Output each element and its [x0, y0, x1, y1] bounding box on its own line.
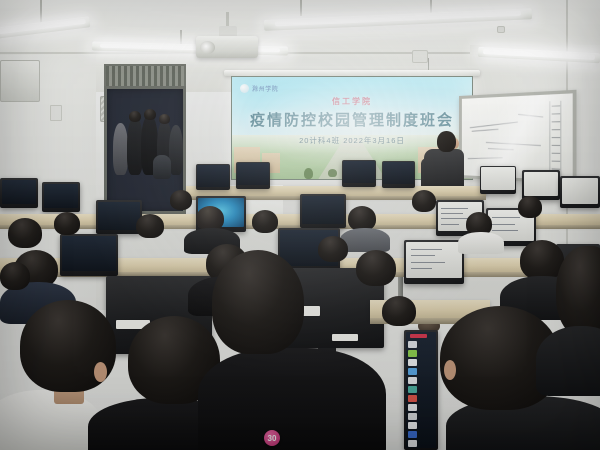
- monitor: [196, 164, 230, 190]
- wall-plate: [50, 105, 62, 121]
- monitor: [404, 240, 464, 284]
- monitor-with-desktop-icons[interactable]: [404, 330, 438, 450]
- desktop-icon[interactable]: [408, 431, 417, 438]
- desktop-icon-column[interactable]: [408, 341, 428, 448]
- monitor: [560, 176, 600, 208]
- student-head: [0, 262, 30, 290]
- student-head-foreground: [556, 246, 600, 338]
- student-head: [54, 212, 80, 235]
- monitor: [342, 160, 376, 187]
- monitor: [480, 166, 516, 194]
- air-conditioner-unit: [0, 60, 40, 102]
- wall-plate: [497, 26, 505, 33]
- institution-logo-icon: [240, 84, 249, 93]
- monitor: [382, 161, 415, 188]
- person-in-doorway: [113, 123, 128, 175]
- desktop-icon[interactable]: [408, 386, 417, 393]
- student-head: [170, 190, 192, 210]
- student-head: [252, 210, 278, 233]
- institution-logo-text: 滁州学院: [252, 84, 278, 93]
- projector-lens-icon: [200, 41, 215, 54]
- monitor: [300, 194, 346, 228]
- student-ear: [444, 360, 456, 380]
- monitor: [42, 182, 80, 212]
- asset-label-sticker: [332, 334, 358, 341]
- monitor: [60, 234, 118, 276]
- backpack: [153, 155, 171, 179]
- light-hanger: [300, 0, 302, 16]
- desktop-icon[interactable]: [408, 359, 417, 366]
- presenter-head: [437, 131, 456, 152]
- person-in-doorway: [169, 125, 183, 175]
- student-shoulders: [458, 232, 504, 254]
- desktop-icon[interactable]: [408, 341, 417, 348]
- desktop-icon[interactable]: [408, 404, 417, 411]
- student-head: [412, 190, 436, 212]
- slide-meta-line: 20计科4班 2022年3月16日: [232, 135, 472, 146]
- student-shoulders-foreground: [0, 390, 102, 450]
- slide-tree: [304, 168, 313, 179]
- desktop-icon[interactable]: [408, 350, 417, 357]
- wall-socket-box: [412, 50, 428, 63]
- light-hanger: [40, 0, 42, 24]
- slide-department-line: 信工学院: [232, 96, 472, 107]
- whiteboard-glare: [462, 93, 573, 180]
- taskbar-highlight: [410, 334, 427, 338]
- desktop-icon[interactable]: [408, 377, 417, 384]
- student-shoulders-foreground: [198, 348, 386, 450]
- student-head: [136, 214, 164, 238]
- desktop-icon[interactable]: [408, 395, 417, 402]
- student-head-foreground: [212, 250, 304, 354]
- head: [129, 111, 141, 122]
- desktop-icon[interactable]: [408, 413, 417, 420]
- desktop-icon[interactable]: [408, 422, 417, 429]
- student-ear: [94, 362, 107, 382]
- slide-title: 疫情防控校园管理制度班会: [232, 109, 472, 130]
- desktop-icon[interactable]: [408, 368, 417, 375]
- student-head: [382, 296, 416, 326]
- monitor: [236, 162, 270, 189]
- head: [144, 109, 156, 120]
- student-head: [318, 236, 348, 262]
- monitor: [0, 178, 38, 208]
- slide-tree: [328, 169, 337, 177]
- door-transom-window: [104, 64, 186, 88]
- desktop-icon[interactable]: [408, 440, 417, 447]
- number-sticker-30: 30: [264, 430, 280, 446]
- head: [159, 114, 170, 124]
- student-head: [518, 196, 542, 218]
- classroom-photo: 滁州学院 信工学院 疫情防控校园管理制度班会 20计科4班 2022年3月16日: [0, 0, 600, 450]
- student-head: [356, 250, 396, 286]
- student-head: [8, 218, 42, 248]
